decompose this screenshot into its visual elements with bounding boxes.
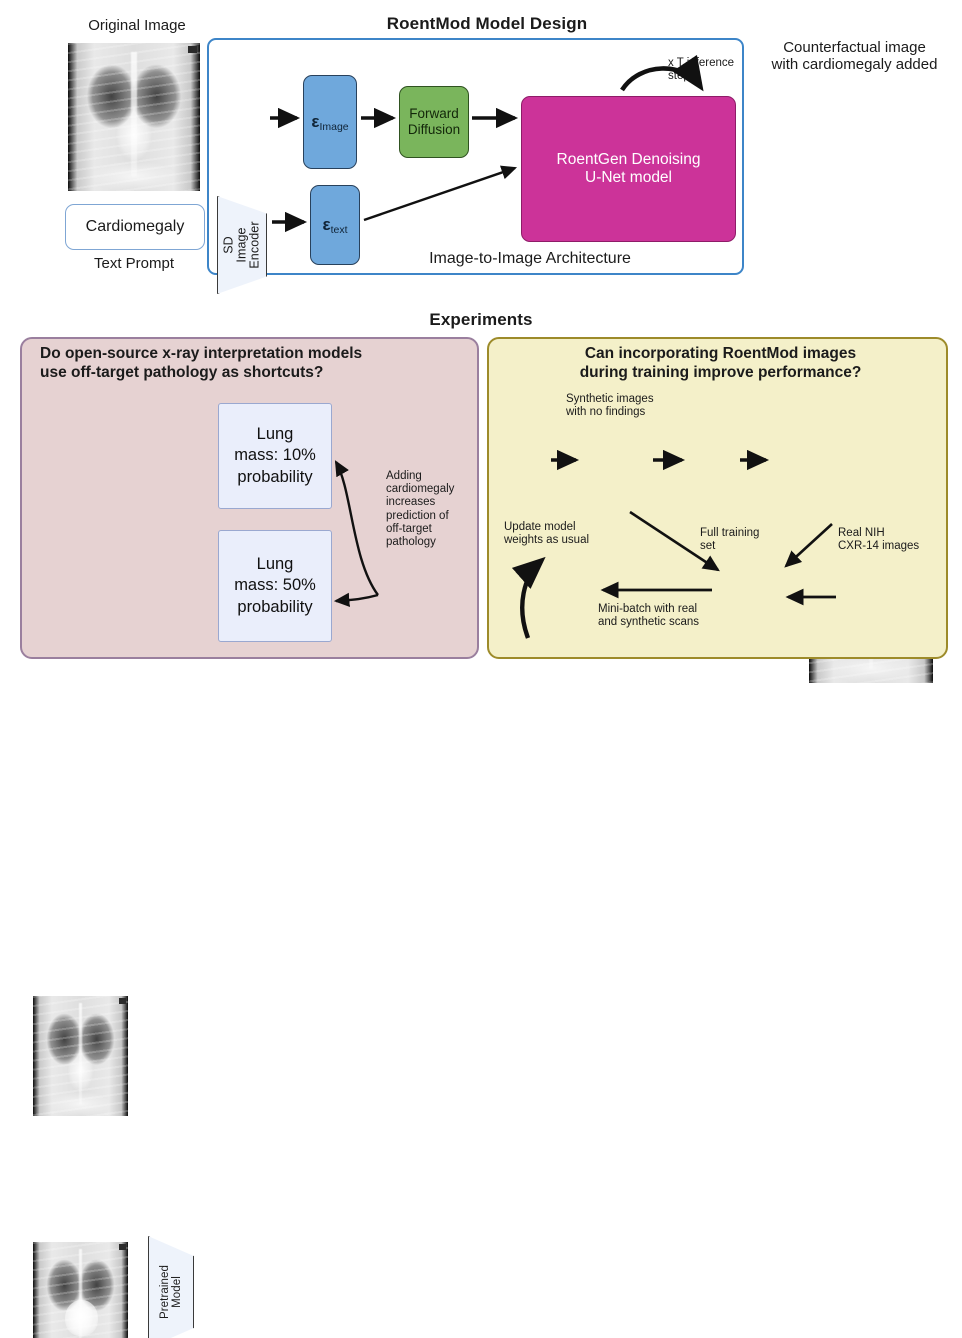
top-panel-title: RoentMod Model Design xyxy=(262,14,712,34)
epsilon-image-block: εImage xyxy=(303,75,357,169)
experiment-left-xray-top xyxy=(33,996,128,1116)
counterfactual-caption-line-1: Counterfactual image xyxy=(752,40,957,57)
experiment-left-xray-bottom xyxy=(33,1242,128,1338)
forward-diffusion-block: Forward Diffusion xyxy=(399,86,469,158)
real-nih-note: Real NIH CXR-14 images xyxy=(838,527,942,553)
experiment-left-annotation: Adding cardiomegaly increases prediction… xyxy=(386,470,472,549)
pretrained-model-block-top: Pretrained Model xyxy=(148,1236,194,1338)
text-prompt-caption: Text Prompt xyxy=(60,256,208,273)
sd-image-encoder-label: SD Image Encoder xyxy=(222,221,261,268)
prediction-box-bottom: Lung mass: 50% probability xyxy=(218,530,332,642)
original-image-label: Original Image xyxy=(62,18,212,35)
epsilon-text-block: εtext xyxy=(310,185,360,265)
synthetic-images-note: Synthetic images with no findings xyxy=(566,393,674,419)
counterfactual-caption: Counterfactual image with cardiomegaly a… xyxy=(752,40,957,74)
roentgen-unet-block: RoentGen Denoising U-Net model xyxy=(521,96,736,242)
pretrained-model-label-top: Pretrained Model xyxy=(159,1265,183,1319)
minibatch-note: Mini-batch with real and synthetic scans xyxy=(598,603,730,629)
text-prompt-value: Cardiomegaly xyxy=(86,218,185,236)
experiments-title: Experiments xyxy=(381,310,581,330)
experiment-right-question-line-2: during training improve performance? xyxy=(508,364,933,383)
epsilon-image-label: εImage xyxy=(311,112,348,132)
experiment-left-question-line-1: Do open-source x-ray interpretation mode… xyxy=(40,345,460,364)
counterfactual-caption-line-2: with cardiomegaly added xyxy=(752,57,957,74)
experiment-right-question: Can incorporating RoentMod images during… xyxy=(508,345,933,383)
text-prompt-box[interactable]: Cardiomegaly xyxy=(65,204,205,250)
unet-line-1: RoentGen Denoising xyxy=(557,151,701,169)
original-image-label-wrap: Original Image xyxy=(62,18,212,35)
experiment-right-question-line-1: Can incorporating RoentMod images xyxy=(508,345,933,364)
original-xray-image xyxy=(68,43,200,191)
experiment-left-question-line-2: use off-target pathology as shortcuts? xyxy=(40,364,460,383)
prediction-box-top: Lung mass: 10% probability xyxy=(218,403,332,509)
inference-steps-note: x T inference steps xyxy=(668,57,758,83)
experiment-left-question: Do open-source x-ray interpretation mode… xyxy=(40,345,460,383)
full-training-set-note: Full training set xyxy=(700,527,784,553)
epsilon-text-label: εtext xyxy=(322,215,347,235)
figure-root: Original Image Cardiomegaly Text Prompt … xyxy=(0,0,962,669)
update-model-note: Update model weights as usual xyxy=(504,521,624,547)
unet-line-2: U-Net model xyxy=(585,169,672,187)
top-panel-footer: Image-to-Image Architecture xyxy=(380,250,680,268)
